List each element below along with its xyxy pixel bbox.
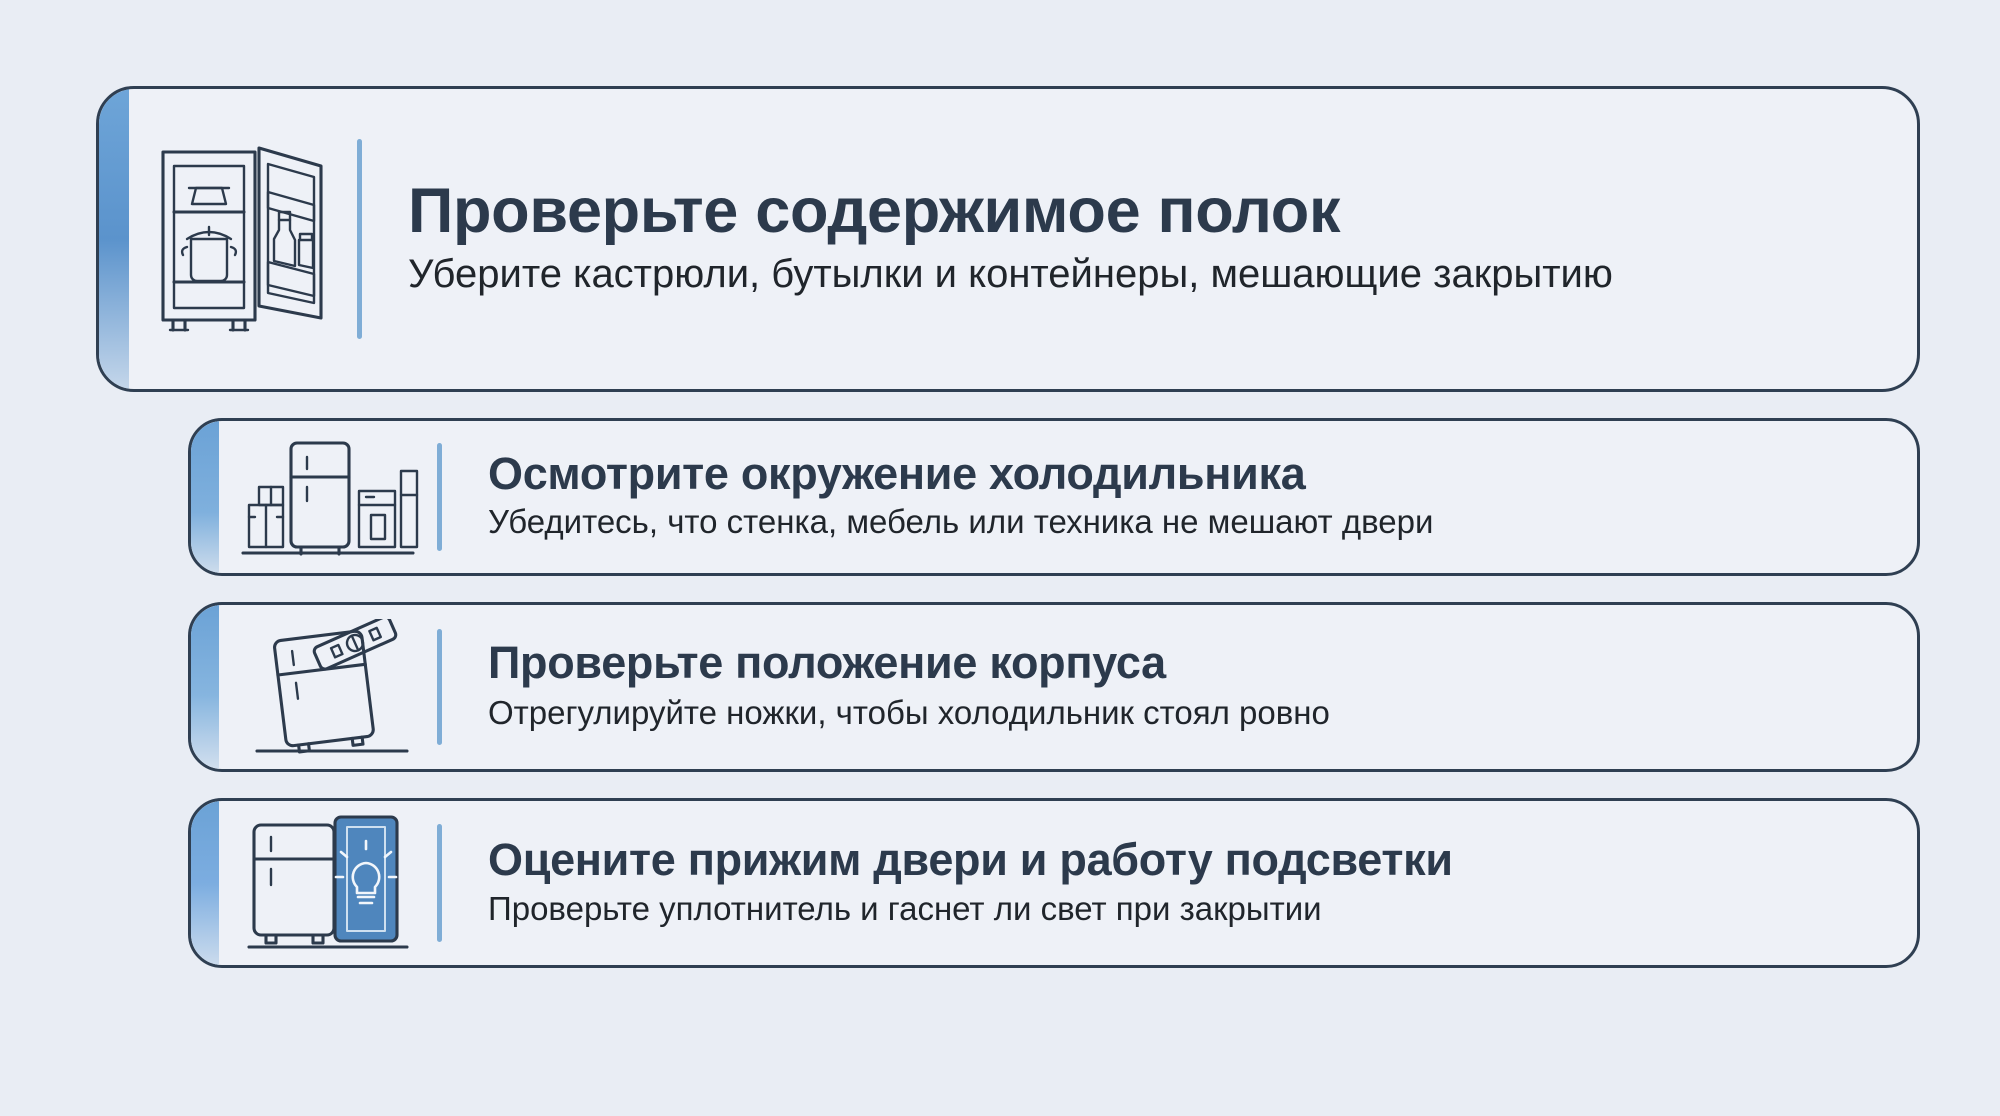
card-text: Осмотрите окружение холодильника Убедите… — [442, 421, 1917, 573]
card-body: Уберите кастрюли, бутылки и контейнеры, … — [408, 250, 1698, 299]
card-body: Отрегулируйте ножки, чтобы холодильник с… — [488, 693, 1877, 733]
card-text: Проверьте содержимое полок Уберите кастр… — [362, 89, 1917, 389]
card-title: Проверьте положение корпуса — [488, 640, 1877, 687]
checklist-card-2[interactable]: Осмотрите окружение холодильника Убедите… — [188, 418, 1920, 576]
card-title: Оцените прижим двери и работу подсветки — [488, 837, 1877, 884]
card-body: Проверьте уплотнитель и гаснет ли свет п… — [488, 889, 1877, 929]
refrigerator-surroundings-icon — [219, 421, 437, 573]
card-list: Проверьте содержимое полок Уберите кастр… — [96, 86, 1920, 968]
card-accent-bar — [191, 421, 219, 573]
open-refrigerator-with-contents-icon — [129, 89, 357, 389]
checklist-card-3[interactable]: Проверьте положение корпуса Отрегулируйт… — [188, 602, 1920, 772]
card-accent-bar — [191, 801, 219, 965]
card-accent-bar — [99, 89, 129, 389]
card-text: Оцените прижим двери и работу подсветки … — [442, 801, 1917, 965]
tilted-refrigerator-with-level-icon — [219, 605, 437, 769]
checklist-card-4[interactable]: Оцените прижим двери и работу подсветки … — [188, 798, 1920, 968]
card-body: Убедитесь, что стенка, мебель или техник… — [488, 502, 1877, 542]
card-title: Осмотрите окружение холодильника — [488, 451, 1877, 498]
refrigerator-open-door-light-icon — [219, 801, 437, 965]
checklist-card-1[interactable]: Проверьте содержимое полок Уберите кастр… — [96, 86, 1920, 392]
infographic-board: Проверьте содержимое полок Уберите кастр… — [0, 0, 2000, 1116]
card-accent-bar — [191, 605, 219, 769]
card-title: Проверьте содержимое полок — [408, 179, 1877, 245]
card-text: Проверьте положение корпуса Отрегулируйт… — [442, 605, 1917, 769]
